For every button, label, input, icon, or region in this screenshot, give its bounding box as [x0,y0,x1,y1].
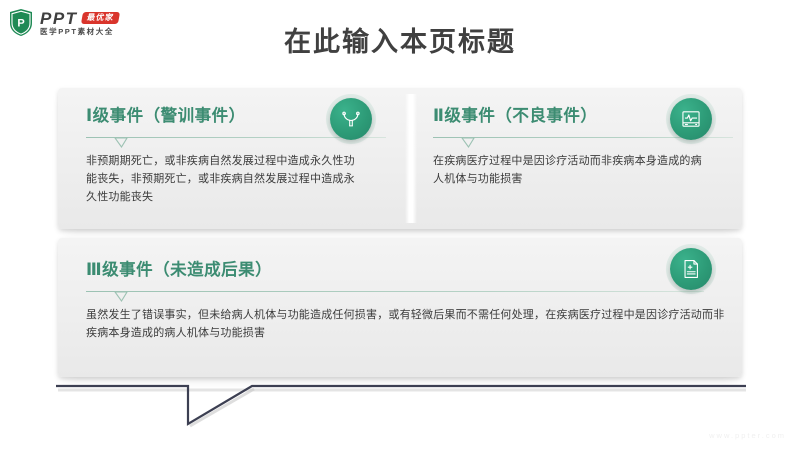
watermark: www.ppter.com [709,431,786,440]
card-body: 在疾病医疗过程中是因诊疗活动而非疾病本身造成的病人机体与功能损害 [433,153,711,189]
card-body: 非预期期死亡，或非疾病自然发展过程中造成永久性功能丧失，非预期死亡，或非疾病自然… [86,153,364,206]
heading-divider [86,287,734,301]
page-title: 在此输入本页标题 [0,20,800,59]
card-level-3[interactable]: Ⅲ级事件（未造成后果） 虽然发生了错误事实，但未给病人机体与功能造成任何损害，或… [86,256,734,343]
chevron-down-icon [461,137,487,149]
slide-canvas: P PPT 最优家 医学PPT素材大全 在此输入本页标题 Ⅰ级事件（警训事件） [0,0,800,450]
ecg-monitor-icon [670,98,712,140]
uterus-icon [330,98,372,140]
bottom-panel: Ⅲ级事件（未造成后果） 虽然发生了错误事实，但未给病人机体与功能造成任何损害，或… [58,238,742,377]
card-body: 虽然发生了错误事实，但未给病人机体与功能造成任何损害，或有轻微后果而不需任何处理… [86,307,726,343]
chevron-down-icon [114,291,140,303]
card-heading: Ⅲ级事件（未造成后果） [86,256,734,280]
panel-divider [405,94,417,223]
chevron-down-icon [114,137,140,149]
bottom-arrow-decoration [56,374,746,436]
medical-report-icon [670,248,712,290]
top-panel: Ⅰ级事件（警训事件） 非预期期死亡，或非疾病自然发展过程中造成永久性功能丧失，非… [58,88,742,229]
